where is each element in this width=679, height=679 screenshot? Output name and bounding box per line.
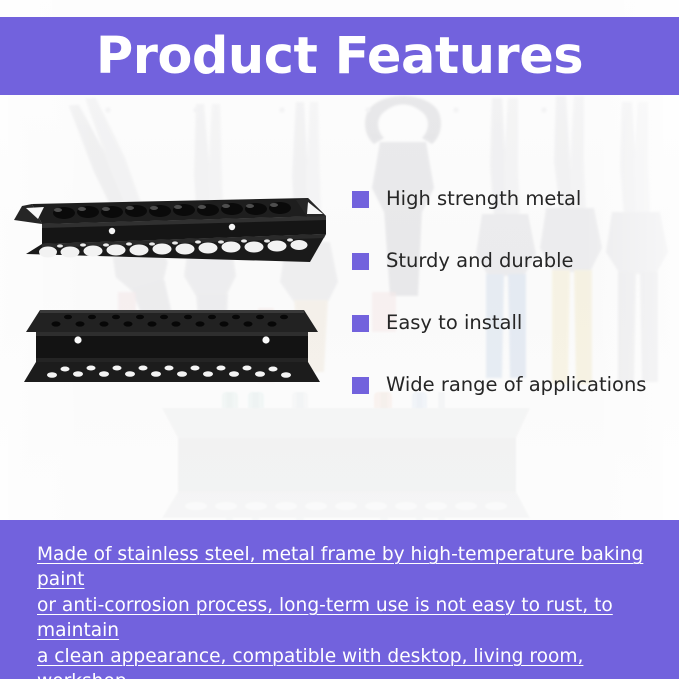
feature-item-wide-range-of-applications: Wide range of applications	[352, 354, 674, 416]
product-image-rack-large-holes	[8, 186, 328, 272]
feature-item-sturdy-and-durable: Sturdy and durable	[352, 230, 674, 292]
feature-list: High strength metal Sturdy and durable E…	[352, 168, 674, 416]
description-text: Made of stainless steel, metal frame by …	[37, 542, 649, 679]
page-title: Product Features	[96, 31, 583, 82]
product-image-rack-small-holes	[22, 300, 322, 388]
header-banner: Product Features	[0, 17, 679, 95]
square-bullet-icon	[352, 377, 369, 394]
description-line: or anti-corrosion process, long-term use…	[37, 593, 649, 644]
product-features-infographic: Product Features	[0, 0, 679, 679]
description-line: Made of stainless steel, metal frame by …	[37, 542, 649, 593]
feature-label: Wide range of applications	[386, 373, 646, 396]
description-panel: Made of stainless steel, metal frame by …	[0, 520, 679, 679]
feature-label: Sturdy and durable	[386, 249, 574, 272]
feature-item-easy-to-install: Easy to install	[352, 292, 674, 354]
feature-label: High strength metal	[386, 187, 581, 210]
feature-label: Easy to install	[386, 311, 522, 334]
square-bullet-icon	[352, 191, 369, 208]
square-bullet-icon	[352, 253, 369, 270]
feature-item-high-strength-metal: High strength metal	[352, 168, 674, 230]
square-bullet-icon	[352, 315, 369, 332]
description-line: a clean appearance, compatible with desk…	[37, 644, 649, 679]
